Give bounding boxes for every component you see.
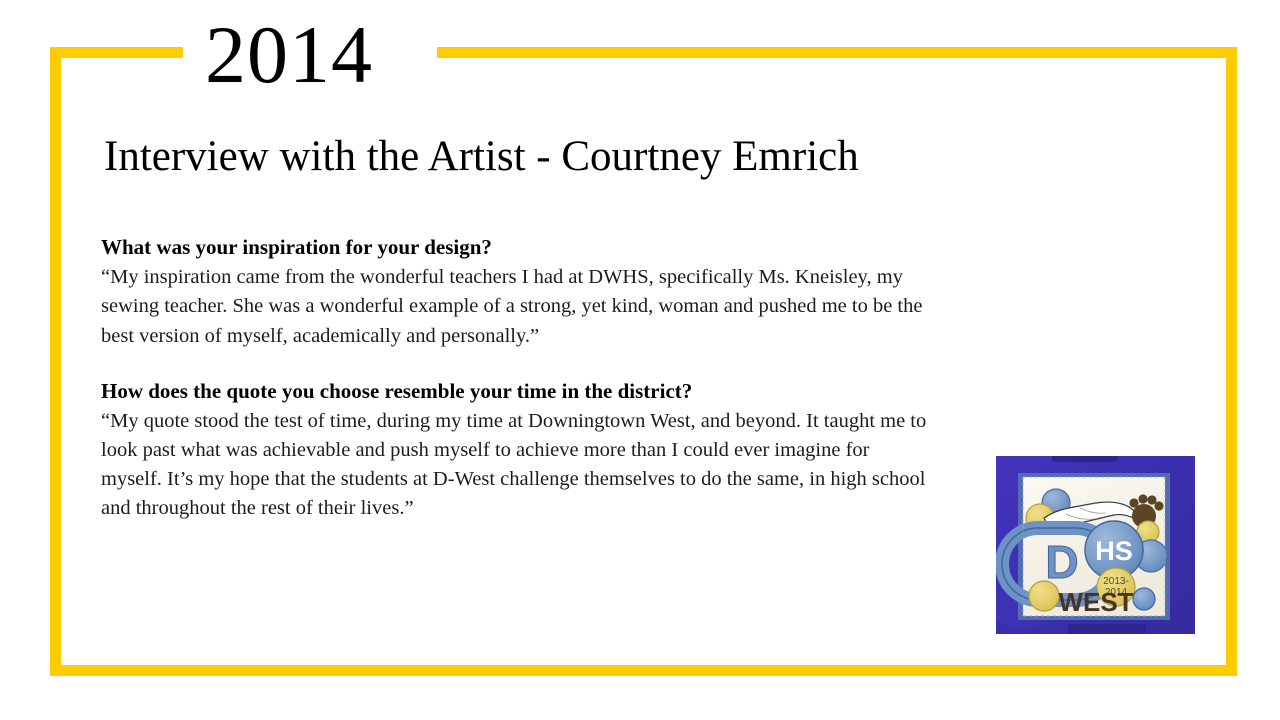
year-label: 2014 <box>205 14 373 96</box>
qa-question: What was your inspiration for your desig… <box>101 233 931 261</box>
interview-content: What was your inspiration for your desig… <box>101 233 931 523</box>
svg-text:D: D <box>1045 536 1078 588</box>
qa-block: How does the quote you choose resemble y… <box>101 377 931 524</box>
slide-canvas: 2014 Interview with the Artist - Courtne… <box>0 0 1280 720</box>
qa-answer: “My inspiration came from the wonderful … <box>101 263 931 350</box>
svg-text:2013-: 2013- <box>1103 576 1129 587</box>
svg-text:WEST: WEST <box>1058 587 1133 617</box>
qa-answer: “My quote stood the test of time, during… <box>101 407 931 523</box>
qa-question: How does the quote you choose resemble y… <box>101 377 931 405</box>
frame-left-border <box>50 47 61 676</box>
svg-text:HS: HS <box>1095 536 1133 566</box>
quilt-square-photo: HS D 2013- 2014 WEST Photograph of a han… <box>996 456 1195 634</box>
frame-top-border-right <box>437 47 1237 58</box>
qa-block: What was your inspiration for your desig… <box>101 233 931 351</box>
frame-top-border-left <box>50 47 183 58</box>
page-title: Interview with the Artist - Courtney Emr… <box>104 131 1184 183</box>
frame-bottom-border <box>50 665 1237 676</box>
frame-right-border <box>1226 47 1237 676</box>
